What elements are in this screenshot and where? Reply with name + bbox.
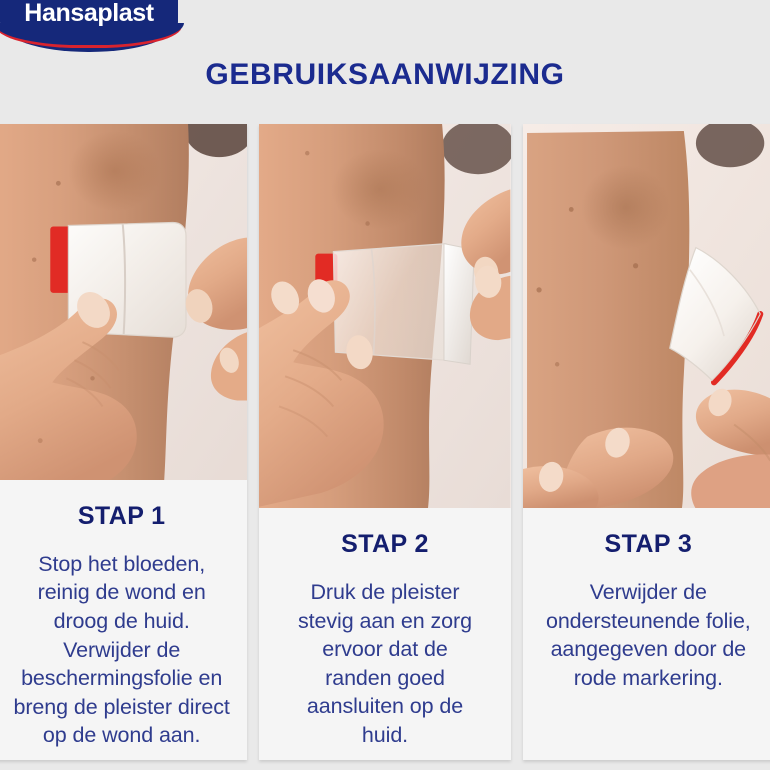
step-3-photo: [523, 124, 770, 508]
step-3-title: STAP 3: [535, 530, 762, 559]
step-3-caption: STAP 3 Verwijder de ondersteunende folie…: [523, 508, 770, 760]
step-1-text: Stop het bloeden, reinig de wond en droo…: [8, 550, 235, 750]
step-card-1: STAP 1 Stop het bloeden, reinig de wond …: [0, 124, 247, 760]
step-2-photo: [259, 124, 510, 508]
step-2-text: Druk de pleister stevig aan en zorg ervo…: [271, 578, 498, 750]
step-3-illustration: [523, 124, 770, 508]
step-card-2: STAP 2 Druk de pleister stevig aan en zo…: [259, 124, 510, 760]
step-card-3: STAP 3 Verwijder de ondersteunende folie…: [523, 124, 770, 760]
steps-container: STAP 1 Stop het bloeden, reinig de wond …: [0, 124, 770, 760]
step-2-title: STAP 2: [271, 530, 498, 559]
step-1-illustration: [0, 124, 247, 480]
step-2-caption: STAP 2 Druk de pleister stevig aan en zo…: [259, 508, 510, 760]
step-1-caption: STAP 1 Stop het bloeden, reinig de wond …: [0, 480, 247, 760]
page-header: Hansaplast GEBRUIKSAANWIJZING: [0, 0, 770, 122]
page-title: GEBRUIKSAANWIJZING: [0, 58, 770, 92]
hansaplast-logo: Hansaplast: [0, 0, 178, 52]
step-3-text: Verwijder de ondersteunende folie, aange…: [535, 578, 762, 692]
logo-wordmark: Hansaplast: [0, 0, 178, 28]
step-2-illustration: [259, 124, 510, 508]
step-1-title: STAP 1: [8, 502, 235, 531]
step-1-photo: [0, 124, 247, 480]
